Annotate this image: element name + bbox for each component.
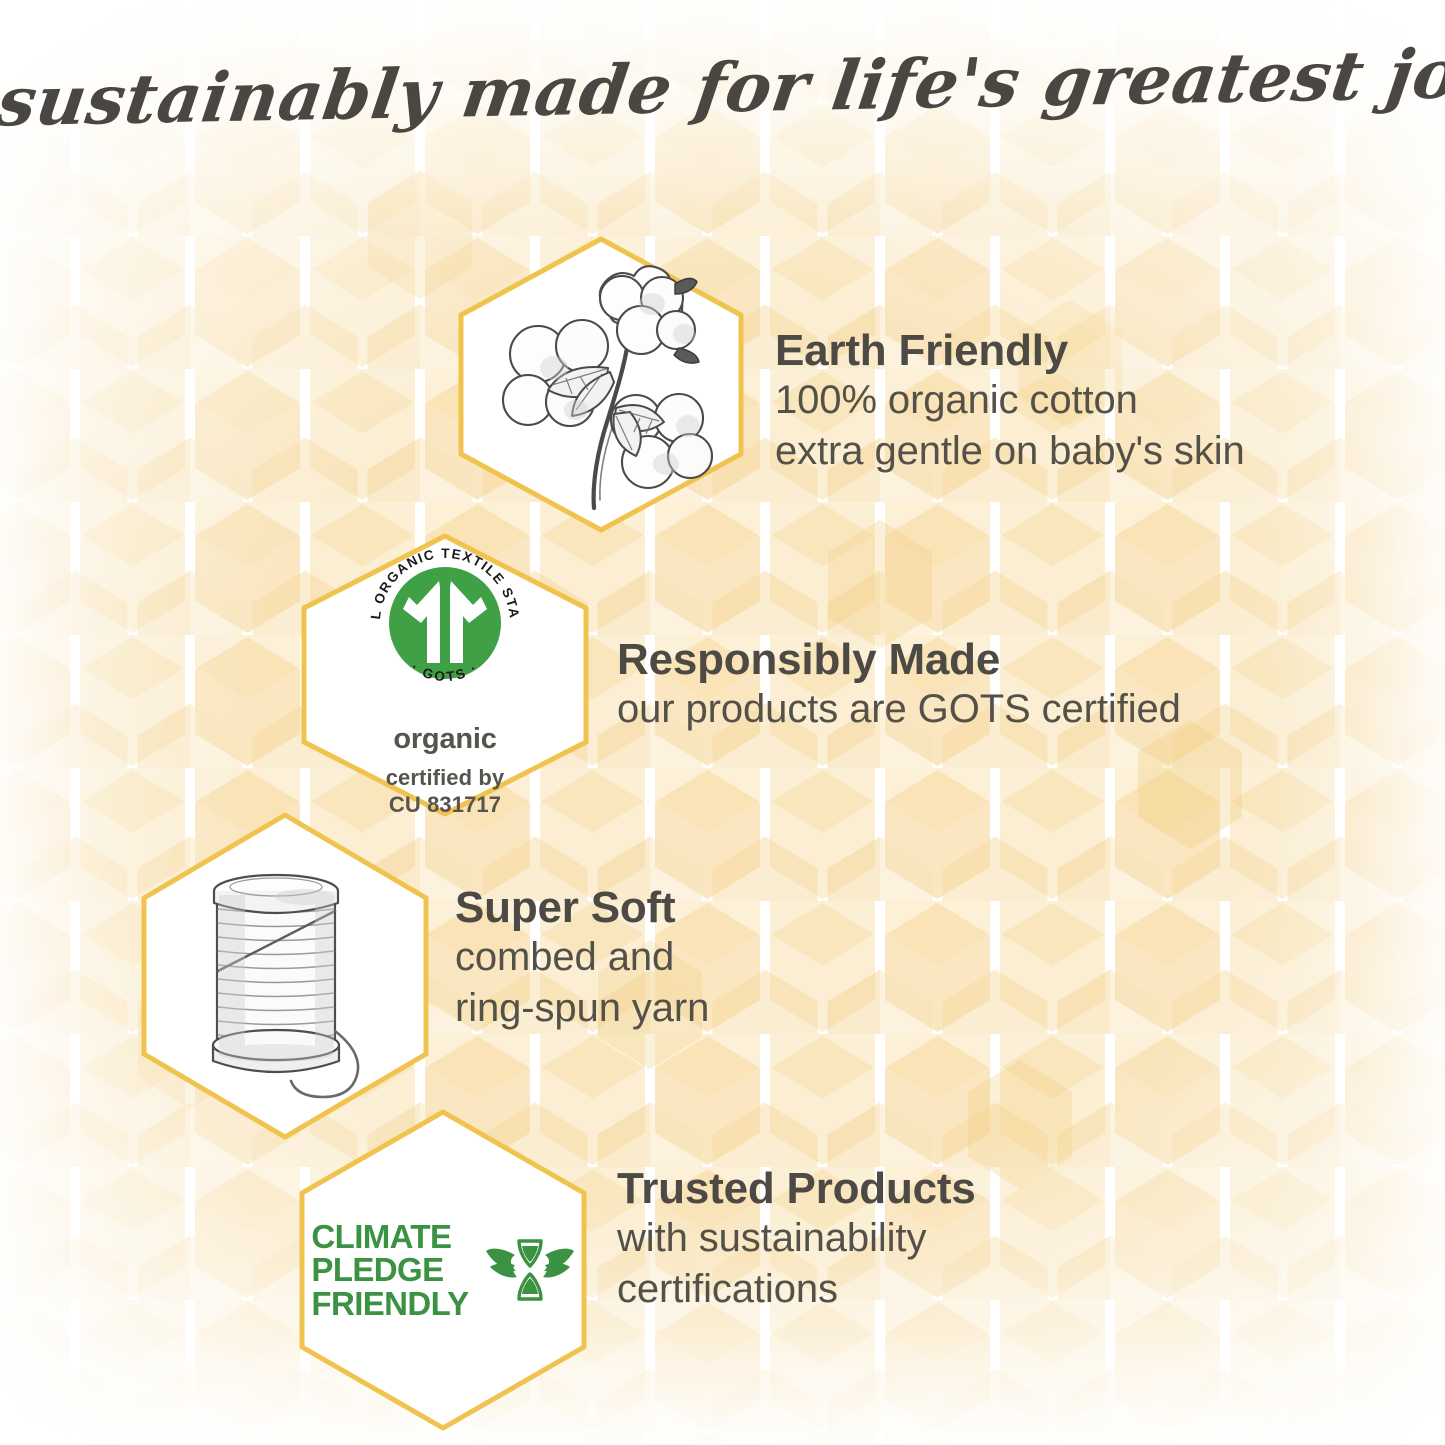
feature-desc-line: ring-spun yarn [455,983,709,1034]
gots-badge-container: GLOBAL ORGANIC TEXTILE STANDARD · GOTS ·… [292,530,598,820]
feature-text-trusted-products: Trusted Products with sustainability cer… [617,1166,976,1315]
feature-text-earth-friendly: Earth Friendly 100% organic cotton extra… [775,328,1245,477]
feature-desc-line: 100% organic cotton [775,375,1245,426]
gots-caption-organic: organic [393,723,496,756]
gots-certification-badge-icon: GLOBAL ORGANIC TEXTILE STANDARD · GOTS · [359,537,531,709]
feature-desc-line: extra gentle on baby's skin [775,426,1245,477]
cotton-boll-icon-container [449,232,753,537]
feature-desc-line: combed and [455,932,709,983]
feature-hex-trusted-products: CLIMATE PLEDGE FRIENDLY [290,1105,596,1435]
cpf-line-1: CLIMATE [311,1220,451,1254]
feature-desc-line: certifications [617,1264,976,1315]
winged-hourglass-icon [485,1233,575,1307]
climate-pledge-wordmark: CLIMATE PLEDGE FRIENDLY [311,1220,468,1321]
feature-title: Trusted Products [617,1166,976,1213]
cpf-line-3: FRIENDLY [311,1287,468,1321]
feature-title: Earth Friendly [775,328,1245,375]
cotton-boll-sketch-icon [476,250,726,520]
thread-spool-icon-container [132,808,438,1144]
thread-spool-sketch-icon [175,853,395,1099]
feature-desc-line: with sustainability [617,1213,976,1264]
feature-text-super-soft: Super Soft combed and ring-spun yarn [455,885,709,1034]
page-headline: sustainably made for life's greatest joy… [0,48,1445,128]
gots-certified-by: certified by [386,765,505,792]
feature-title: Responsibly Made [617,637,1181,684]
feature-hex-earth-friendly [449,232,753,537]
feature-hex-super-soft [132,808,438,1144]
feature-hex-responsibly-made: GLOBAL ORGANIC TEXTILE STANDARD · GOTS ·… [292,530,598,820]
cpf-line-2: PLEDGE [311,1253,443,1287]
headline-text: sustainably made for life's greatest joy [0,34,1445,143]
feature-desc-line: our products are GOTS certified [617,684,1181,735]
feature-text-responsibly-made: Responsibly Made our products are GOTS c… [617,637,1181,735]
feature-title: Super Soft [455,885,709,932]
infographic-canvas: sustainably made for life's greatest joy… [0,0,1445,1445]
climate-pledge-badge-container: CLIMATE PLEDGE FRIENDLY [290,1105,596,1435]
